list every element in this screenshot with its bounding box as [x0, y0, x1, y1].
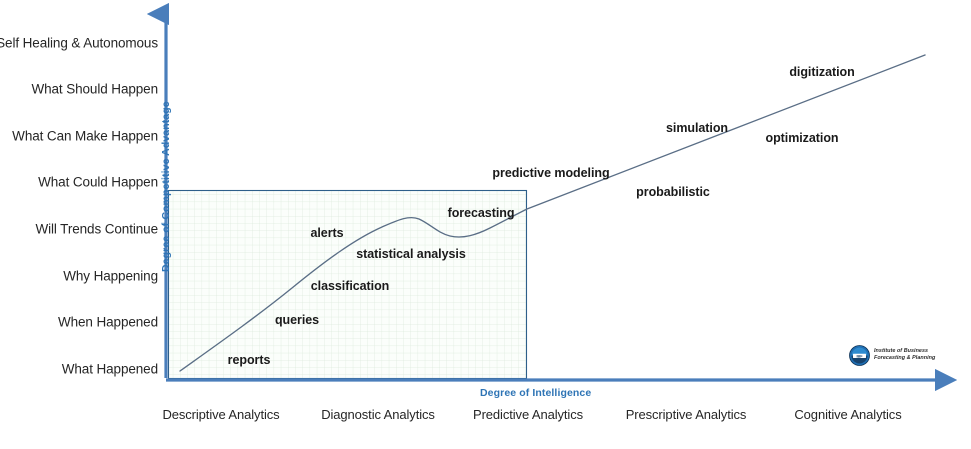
x-axis-category-label: Prescriptive Analytics: [626, 407, 747, 422]
ibf-logo-icon: IBF: [849, 345, 870, 366]
curve-label-queries: queries: [275, 313, 319, 327]
curve-label-simulation: simulation: [666, 121, 728, 135]
x-axis-category-label: Descriptive Analytics: [162, 407, 279, 422]
x-axis-title: Degree of Intelligence: [480, 387, 591, 399]
curve-label-reports: reports: [228, 353, 271, 367]
ibf-logo-text: Institute of Business Forecasting & Plan…: [874, 348, 935, 363]
curve-label-optimization: optimization: [765, 131, 838, 145]
analytics-maturity-chart: Self Healing & Autonomous What Should Ha…: [0, 0, 971, 449]
curve-label-probabilistic: probabilistic: [636, 185, 710, 199]
ibf-logo: IBF Institute of Business Forecasting & …: [849, 343, 945, 367]
ibf-logo-line2: Forecasting & Planning: [874, 355, 935, 362]
curve-label-predictive-modeling: predictive modeling: [492, 166, 609, 180]
curve-label-alerts: alerts: [310, 226, 343, 240]
ibf-logo-monogram: IBF: [857, 354, 864, 358]
x-axis-category-label: Predictive Analytics: [473, 407, 583, 422]
curve-label-statistical-analysis: statistical analysis: [356, 247, 465, 261]
x-axis-category-label: Cognitive Analytics: [794, 407, 901, 422]
ibf-logo-line1: Institute of Business: [874, 348, 935, 355]
curve-label-forecasting: forecasting: [448, 206, 515, 220]
x-axis-category-label: Diagnostic Analytics: [321, 407, 435, 422]
curve-label-digitization: digitization: [789, 65, 854, 79]
y-axis-title: Degree of Competitive Advantage: [160, 101, 172, 272]
curve-label-classification: classification: [311, 279, 390, 293]
